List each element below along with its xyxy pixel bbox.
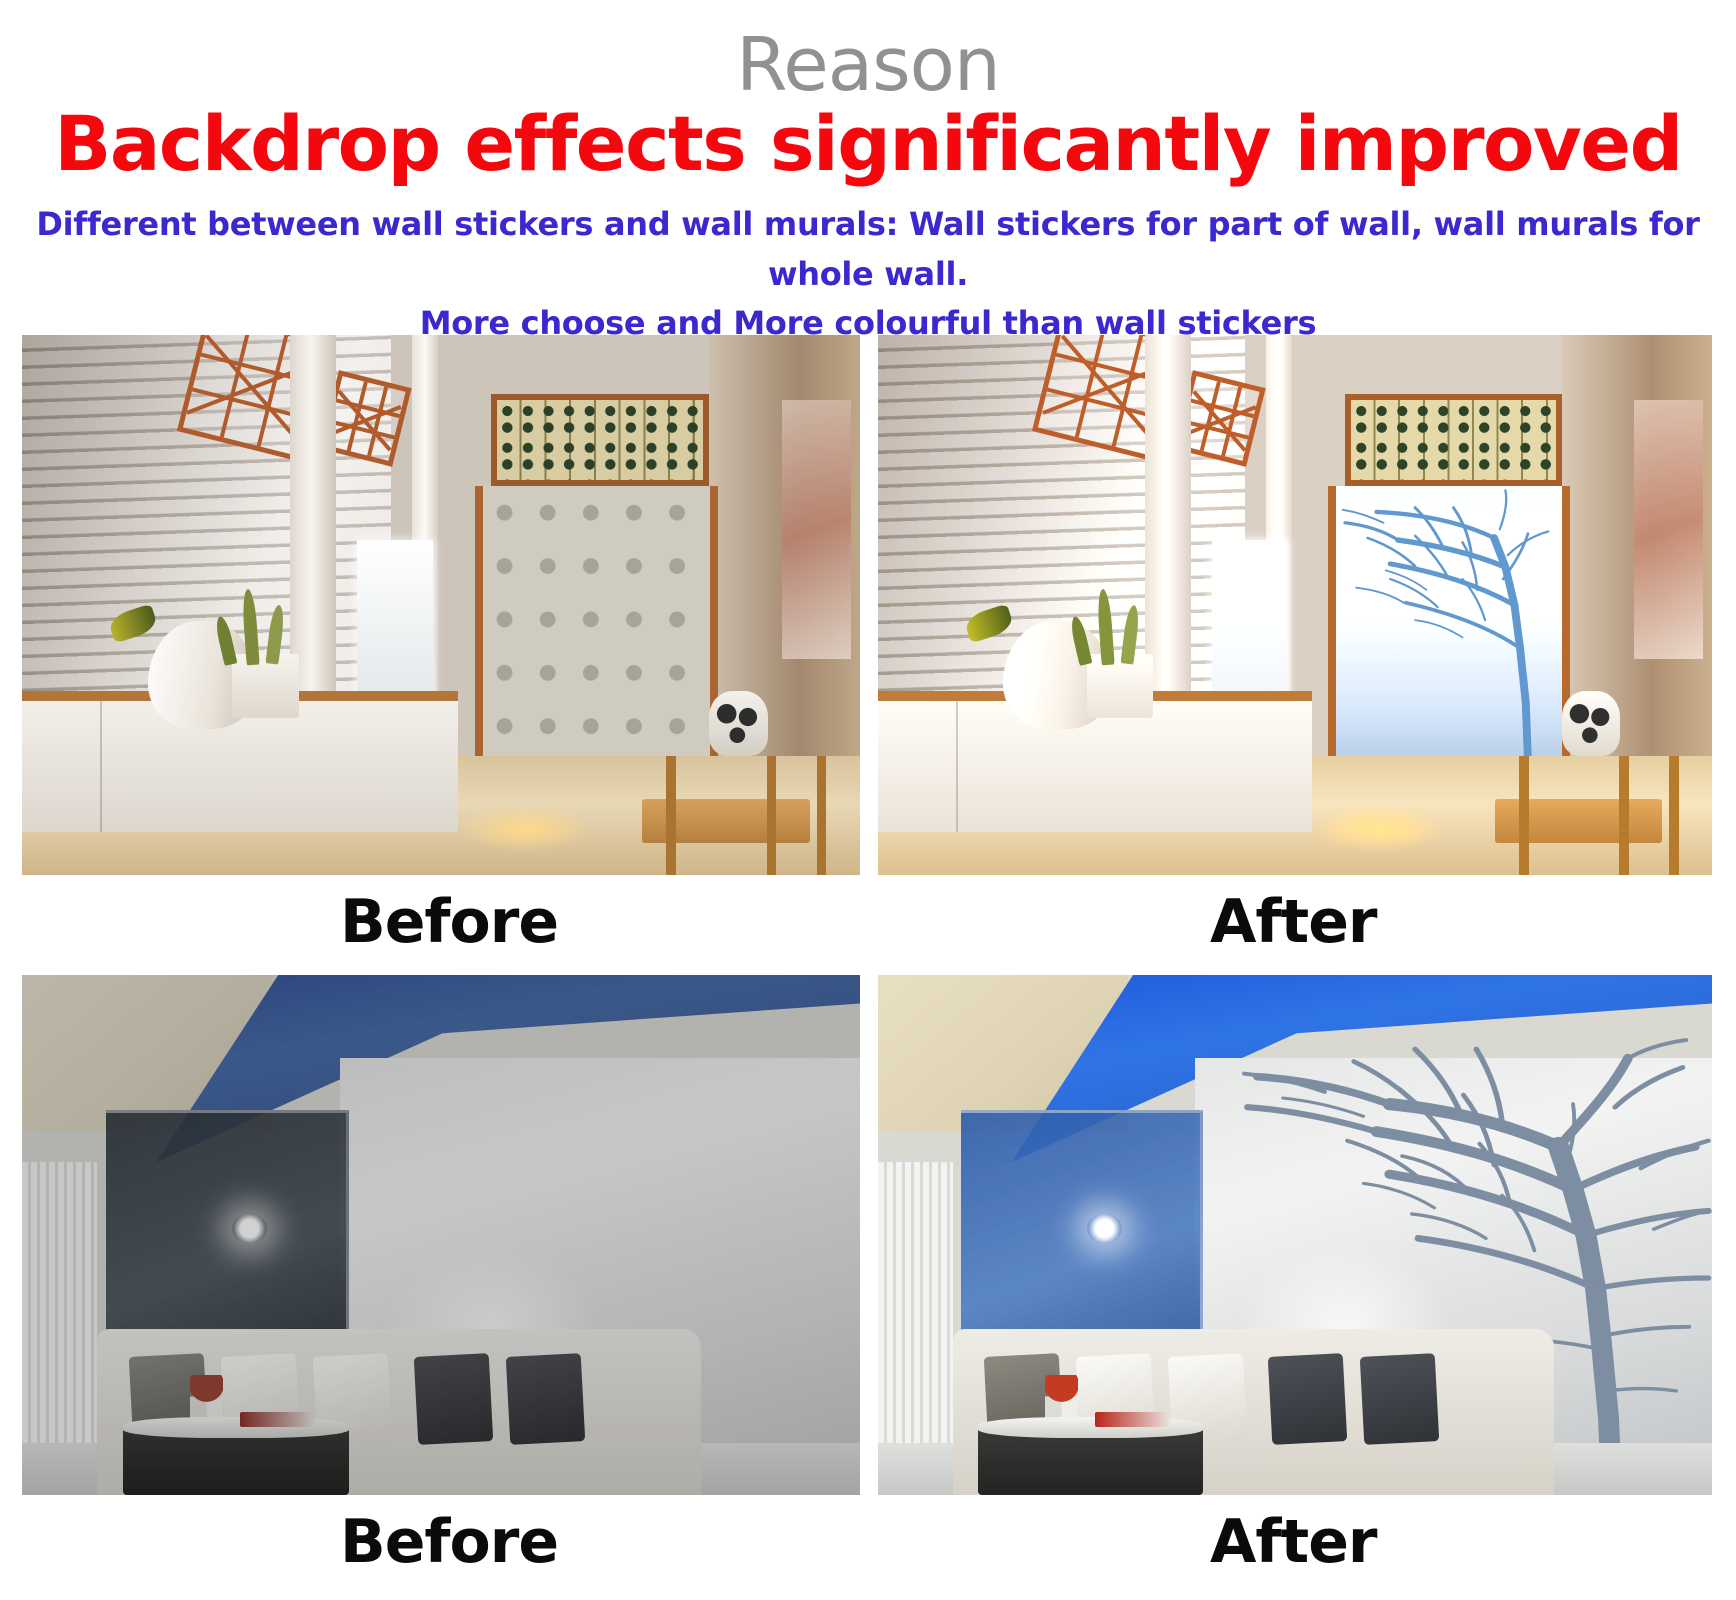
- flower-vase: [190, 1375, 224, 1422]
- living-scene-after: [878, 975, 1712, 1495]
- backdrop-panel-plain: [475, 486, 718, 772]
- cushion-dark: [1359, 1353, 1439, 1445]
- plant-pot: [232, 654, 299, 719]
- book: [1095, 1412, 1170, 1428]
- ornamental-tile-panel: [491, 394, 709, 486]
- panel-living-before: [22, 975, 860, 1495]
- cushion-dark: [506, 1353, 586, 1445]
- caption-living-before: Before: [340, 1512, 558, 1572]
- caption-corridor-before: Before: [340, 892, 558, 952]
- table-leg: [767, 756, 776, 875]
- table-leg: [1619, 756, 1628, 875]
- subtitle-line-1: Different between wall stickers and wall…: [36, 205, 1699, 293]
- window-slot: [357, 540, 432, 702]
- header-block: Reason Backdrop effects significantly im…: [0, 0, 1736, 300]
- comparison-grid: Before After: [0, 300, 1736, 1600]
- decorative-vase: [1562, 691, 1620, 756]
- panel-corridor-after: [878, 335, 1712, 875]
- floor-light-reflection: [1312, 805, 1445, 854]
- ceiling-spotlight-icon: [1087, 1214, 1122, 1243]
- table-leg: [817, 756, 826, 875]
- page-headline: Backdrop effects significantly improved: [13, 104, 1723, 184]
- tree-mural-icon: [1336, 486, 1562, 767]
- table-leg: [1669, 756, 1678, 875]
- radiator: [22, 1162, 97, 1448]
- living-scene-before: [22, 975, 860, 1495]
- backdrop-panel-tree-mural: [1328, 486, 1570, 772]
- eyebrow-title: Reason: [0, 28, 1736, 102]
- cushion-dark: [1268, 1353, 1348, 1445]
- plant-pot: [1087, 654, 1154, 719]
- corridor-scene-before: [22, 335, 860, 875]
- table-leg: [666, 756, 675, 875]
- caption-living-after: After: [1210, 1512, 1377, 1572]
- table-leg: [1519, 756, 1528, 875]
- cushion-dark: [414, 1353, 494, 1445]
- decorative-vase: [709, 691, 768, 756]
- radiator: [878, 1162, 953, 1448]
- ornamental-tile-panel: [1345, 394, 1562, 486]
- flower-vase: [1045, 1375, 1078, 1422]
- photo-corridor-after: [878, 335, 1712, 875]
- panel-corridor-before: [22, 335, 860, 875]
- book: [240, 1412, 315, 1428]
- photo-corridor-before: [22, 335, 860, 875]
- photo-living-before: [22, 975, 860, 1495]
- caption-corridor-after: After: [1210, 892, 1377, 952]
- panel-living-after: [878, 975, 1712, 1495]
- floor-light-reflection: [458, 805, 592, 854]
- photo-living-after: [878, 975, 1712, 1495]
- window-slot: [1212, 540, 1287, 702]
- corridor-scene-after: [878, 335, 1712, 875]
- ceiling-spotlight-icon: [232, 1214, 267, 1243]
